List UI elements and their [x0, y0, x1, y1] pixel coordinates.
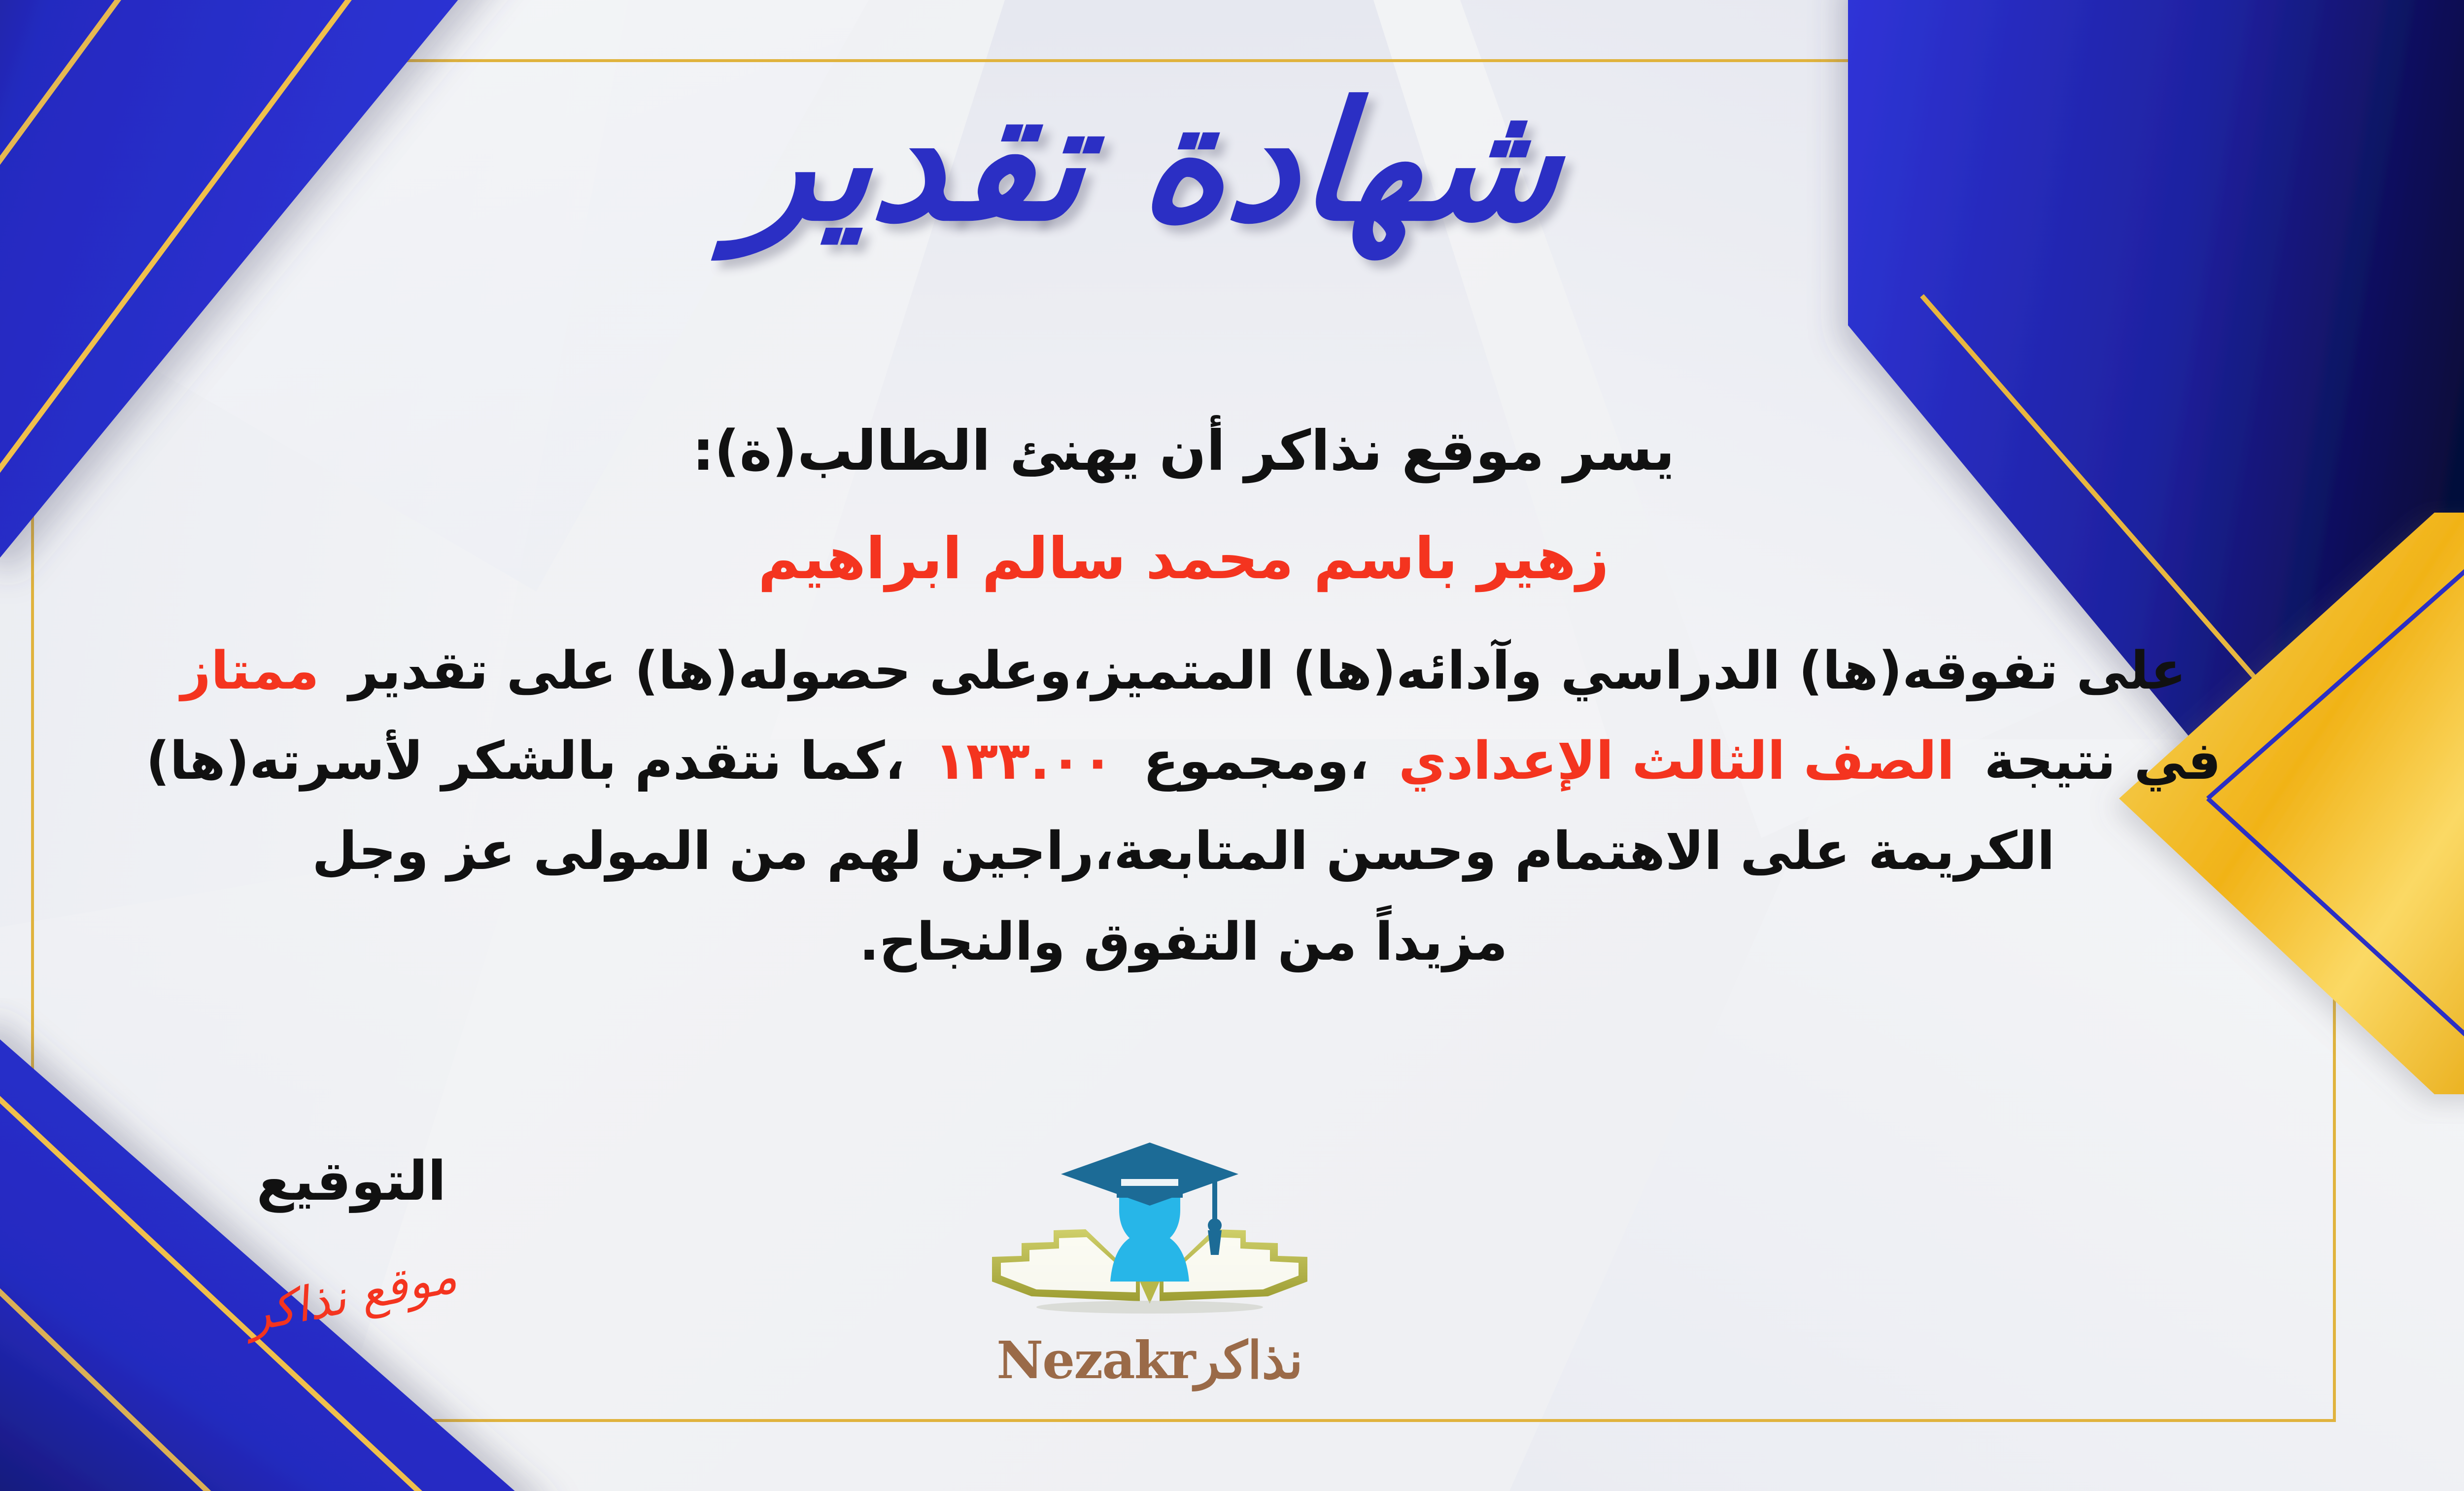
achievement-text-before: على تفوقه(ها) الدراسي وآدائه(ها) المتميز…: [349, 640, 2186, 701]
brand-logo-text: Nezakrنذاكر: [962, 1330, 1337, 1390]
achievement-line-3: الكريمة على الاهتمام وحسن المتابعة،راجين…: [51, 810, 2316, 892]
certificate-canvas: شهادة تقدير يسر موقع نذاكر أن يهنئ الطال…: [0, 0, 2464, 1491]
certificate-body: يسر موقع نذاكر أن يهنئ الطالب(ة): زهير ب…: [51, 409, 2316, 991]
graduate-book-logo-icon: [962, 1134, 1337, 1341]
total-value: ١٣٣.٠٠: [934, 730, 1114, 791]
class-value: الصف الثالث الإعدادي: [1399, 730, 1955, 791]
book-shadow: [1036, 1301, 1263, 1314]
cap-band: [1117, 1175, 1183, 1198]
achievement-line-2: في نتيجةالصف الثالث الإعدادي،ومجموع١٣٣.٠…: [51, 720, 2316, 802]
cap-band-highlight: [1121, 1179, 1178, 1186]
intro-line: يسر موقع نذاكر أن يهنئ الطالب(ة):: [51, 409, 2316, 493]
grade-value: ممتاز: [181, 640, 319, 701]
achievement-line-1: على تفوقه(ها) الدراسي وآدائه(ها) المتميز…: [51, 629, 2316, 712]
signature-block: التوقيع موقع نذاكر: [179, 1148, 524, 1323]
student-name: زهير باسم محمد سالم ابراهيم: [51, 516, 2316, 602]
total-label: ،ومجموع: [1143, 730, 1369, 791]
certificate-title-wrap: شهادة تقدير: [0, 69, 2464, 256]
signature-label: التوقيع: [179, 1148, 524, 1214]
result-text-before: في نتيجة: [1984, 730, 2221, 791]
certificate-title: شهادة تقدير: [731, 69, 1567, 256]
achievement-line-4: مزيداً من التفوق والنجاح.: [51, 901, 2316, 983]
cap-tassel-knot: [1208, 1218, 1222, 1232]
thanks-text: ،كما نتقدم بالشكر لأسرته(ها): [146, 730, 905, 791]
brand-logo-block: Nezakrنذاكر: [962, 1134, 1337, 1390]
